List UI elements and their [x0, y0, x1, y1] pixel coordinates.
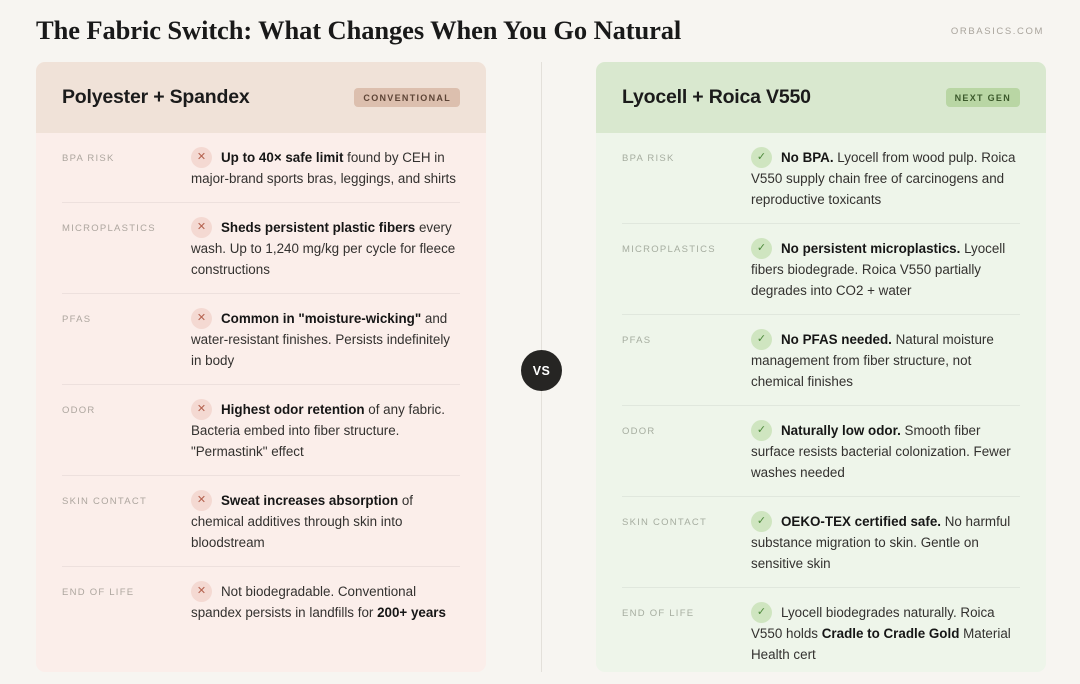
- row-lead-emphasis: No PFAS needed.: [781, 332, 892, 347]
- row-lead-emphasis: Highest odor retention: [221, 402, 365, 417]
- row-detail-text: ✕Sheds persistent plastic fibers every w…: [191, 217, 460, 280]
- row-detail-text: ✕Not biodegradable. Conventional spandex…: [191, 581, 460, 623]
- row-category-label: MICROPLASTICS: [622, 238, 751, 255]
- row-detail-text: ✓No persistent microplastics. Lyocell fi…: [751, 238, 1020, 301]
- brand-attribution: ORBASICS.COM: [951, 26, 1044, 37]
- row-lead-emphasis: Common in "moisture-wicking": [221, 311, 421, 326]
- cross-icon: ✕: [191, 217, 212, 238]
- row-category-label: SKIN CONTACT: [622, 511, 751, 528]
- row-category-label: PFAS: [622, 329, 751, 346]
- status-badge-conventional: CONVENTIONAL: [354, 88, 460, 107]
- cross-icon: ✕: [191, 490, 212, 511]
- card-title-conventional: Polyester + Spandex: [62, 86, 250, 109]
- row-category-label: ODOR: [62, 399, 191, 416]
- cross-icon: ✕: [191, 308, 212, 329]
- row-category-label: BPA RISK: [62, 147, 191, 164]
- check-icon: ✓: [751, 511, 772, 532]
- row-lead-emphasis: No BPA.: [781, 150, 834, 165]
- rows-nextgen: BPA RISK✓No BPA. Lyocell from wood pulp.…: [596, 133, 1046, 672]
- row-detail-text: ✕Up to 40× safe limit found by CEH in ma…: [191, 147, 460, 189]
- card-nextgen: Lyocell + Roica V550 NEXT GEN BPA RISK✓N…: [596, 62, 1046, 672]
- check-icon: ✓: [751, 238, 772, 259]
- comparison-row: ODOR✓Naturally low odor. Smooth fiber su…: [622, 405, 1020, 496]
- row-lead-emphasis: No persistent microplastics.: [781, 241, 960, 256]
- row-category-label: PFAS: [62, 308, 191, 325]
- row-lead-emphasis: Naturally low odor.: [781, 423, 901, 438]
- cross-icon: ✕: [191, 399, 212, 420]
- row-detail-text: ✕Common in "moisture-wicking" and water-…: [191, 308, 460, 371]
- cross-icon: ✕: [191, 147, 212, 168]
- row-category-label: SKIN CONTACT: [62, 490, 191, 507]
- check-icon: ✓: [751, 329, 772, 350]
- row-detail-text: ✓OEKO-TEX certified safe. No harmful sub…: [751, 511, 1020, 574]
- comparison-row: END OF LIFE✕Not biodegradable. Conventio…: [62, 566, 460, 636]
- row-detail-text: ✓No PFAS needed. Natural moisture manage…: [751, 329, 1020, 392]
- comparison-infographic: The Fabric Switch: What Changes When You…: [0, 0, 1080, 684]
- comparison-row: MICROPLASTICS✓No persistent microplastic…: [622, 223, 1020, 314]
- status-badge-nextgen: NEXT GEN: [946, 88, 1020, 107]
- row-category-label: BPA RISK: [622, 147, 751, 164]
- row-category-label: END OF LIFE: [62, 581, 191, 598]
- comparison-row: MICROPLASTICS✕Sheds persistent plastic f…: [62, 202, 460, 293]
- comparison-row: PFAS✕Common in "moisture-wicking" and wa…: [62, 293, 460, 384]
- card-title-nextgen: Lyocell + Roica V550: [622, 86, 811, 109]
- row-detail-text: ✓Naturally low odor. Smooth fiber surfac…: [751, 420, 1020, 483]
- row-lead-emphasis: Sweat increases absorption: [221, 493, 398, 508]
- row-category-label: MICROPLASTICS: [62, 217, 191, 234]
- comparison-row: SKIN CONTACT✓OEKO-TEX certified safe. No…: [622, 496, 1020, 587]
- row-lead-emphasis: Up to 40× safe limit: [221, 150, 343, 165]
- check-icon: ✓: [751, 420, 772, 441]
- row-lead-emphasis: OEKO-TEX certified safe.: [781, 514, 941, 529]
- row-detail-text: ✓Lyocell biodegrades naturally. Roica V5…: [751, 602, 1020, 665]
- card-header-conventional: Polyester + Spandex CONVENTIONAL: [36, 62, 486, 133]
- check-icon: ✓: [751, 147, 772, 168]
- row-lead-emphasis: Sheds persistent plastic fibers: [221, 220, 415, 235]
- row-category-label: ODOR: [622, 420, 751, 437]
- comparison-row: ODOR✕Highest odor retention of any fabri…: [62, 384, 460, 475]
- row-tail-emphasis: 200+ years: [377, 605, 446, 620]
- page-title: The Fabric Switch: What Changes When You…: [36, 16, 681, 45]
- row-detail-text: ✓No BPA. Lyocell from wood pulp. Roica V…: [751, 147, 1020, 210]
- comparison-row: BPA RISK✓No BPA. Lyocell from wood pulp.…: [622, 133, 1020, 223]
- check-icon: ✓: [751, 602, 772, 623]
- card-header-nextgen: Lyocell + Roica V550 NEXT GEN: [596, 62, 1046, 133]
- comparison-row: BPA RISK✕Up to 40× safe limit found by C…: [62, 133, 460, 202]
- row-category-label: END OF LIFE: [622, 602, 751, 619]
- vs-badge: VS: [521, 350, 562, 391]
- row-detail-text: ✕Highest odor retention of any fabric. B…: [191, 399, 460, 462]
- rows-conventional: BPA RISK✕Up to 40× safe limit found by C…: [36, 133, 486, 636]
- page-header: The Fabric Switch: What Changes When You…: [0, 0, 1080, 62]
- comparison-row: END OF LIFE✓Lyocell biodegrades naturall…: [622, 587, 1020, 672]
- cross-icon: ✕: [191, 581, 212, 602]
- row-tail-emphasis: Cradle to Cradle Gold: [822, 626, 960, 641]
- comparison-row: PFAS✓No PFAS needed. Natural moisture ma…: [622, 314, 1020, 405]
- row-detail-text: ✕Sweat increases absorption of chemical …: [191, 490, 460, 553]
- card-conventional: Polyester + Spandex CONVENTIONAL BPA RIS…: [36, 62, 486, 672]
- comparison-row: SKIN CONTACT✕Sweat increases absorption …: [62, 475, 460, 566]
